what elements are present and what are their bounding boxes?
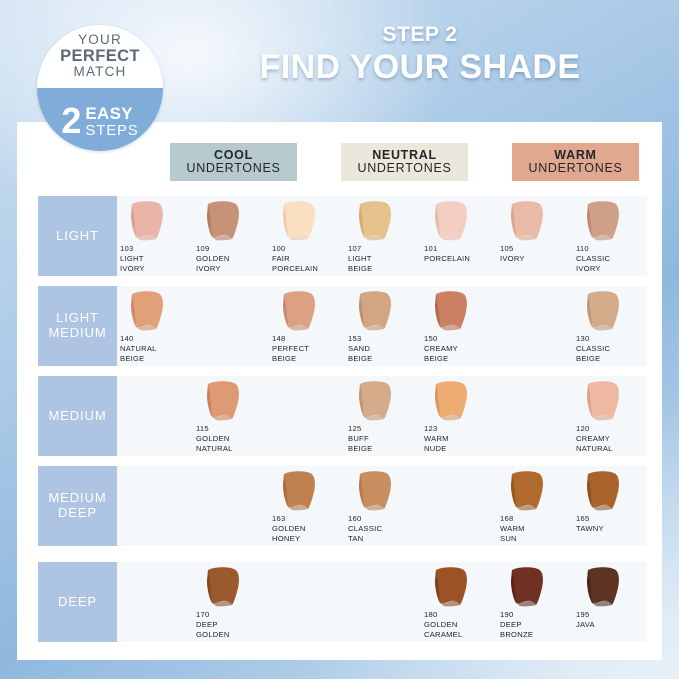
shade-cell[interactable]: 103LIGHTIVORY [117,196,193,276]
foundation-swatch-icon [275,289,325,334]
foundation-swatch-icon [579,379,629,424]
shade-cell[interactable]: 115GOLDENNATURAL [193,376,269,456]
shade-code: 180 [424,610,498,620]
shade-caption: 195JAVA [576,610,650,630]
shade-cell[interactable]: 153SANDBEIGE [345,286,421,366]
shade-cell[interactable]: 120CREAMYNATURAL [573,376,649,456]
shade-caption: 105IVORY [500,244,574,264]
shade-name-line: CREAMY [576,434,650,444]
badge-top-half: YOUR PERFECT MATCH [37,25,163,88]
shade-name-line: BUFF [348,434,422,444]
shade-name-line: IVORY [120,264,194,274]
shade-name-line: GOLDEN [196,434,270,444]
foundation-swatch-icon [351,469,401,514]
row-label-deep: DEEP [38,562,117,642]
shade-name-line: BEIGE [120,354,194,364]
shade-cell[interactable]: 105IVORY [497,196,573,276]
shade-code: 190 [500,610,574,620]
shade-code: 168 [500,514,574,524]
shade-caption: 163GOLDENHONEY [272,514,346,544]
foundation-swatch-icon [427,199,477,244]
shade-cell[interactable]: 140NATURALBEIGE [117,286,193,366]
shade-code: 163 [272,514,346,524]
shade-row: LIGHTMEDIUM140NATURALBEIGE148PERFECTBEIG… [38,286,647,366]
foundation-swatch-icon [199,565,249,610]
foundation-swatch-icon [275,469,325,514]
badge-step-words: EASY STEPS [85,105,138,138]
shade-cell[interactable]: 109GOLDENIVORY [193,196,269,276]
shade-code: 101 [424,244,498,254]
foundation-swatch-icon [427,565,477,610]
row-label-line: MEDIUM [48,326,106,341]
shade-caption: 160CLASSICTAN [348,514,422,544]
row-cells: 103LIGHTIVORY109GOLDENIVORY100FAIRPORCEL… [117,196,647,276]
shade-code: 123 [424,424,498,434]
undertone-header-cool: COOL UNDERTONES [170,143,297,181]
shade-name-line: CREAMY [424,344,498,354]
perfect-match-badge: YOUR PERFECT MATCH 2 EASY STEPS [37,25,163,151]
shade-caption: 123WARMNUDE [424,424,498,454]
shade-name-line: GOLDEN [196,254,270,264]
shade-name-line: IVORY [196,264,270,274]
shade-name-line: BEIGE [348,444,422,454]
shade-name-line: HONEY [272,534,346,544]
row-cells: 163GOLDENHONEY160CLASSICTAN168WARMSUN165… [117,466,647,546]
undertone-sub-warm: UNDERTONES [528,162,622,176]
shade-name-line: GOLDEN [424,620,498,630]
shade-cell[interactable]: 101PORCELAIN [421,196,497,276]
row-cells: 170DEEPGOLDEN180GOLDENCARAMEL190DEEPBRON… [117,562,647,642]
shade-name-line: JAVA [576,620,650,630]
shade-row: DEEP170DEEPGOLDEN180GOLDENCARAMEL190DEEP… [38,562,647,642]
shade-name-line: DEEP [500,620,574,630]
shade-name-line: BEIGE [348,354,422,364]
row-label-line: LIGHT [56,229,99,244]
foundation-swatch-icon [427,379,477,424]
shade-code: 195 [576,610,650,620]
shade-caption: 153SANDBEIGE [348,334,422,364]
row-label-medium: MEDIUM [38,376,117,456]
shade-caption: 101PORCELAIN [424,244,498,264]
shade-cell[interactable]: 110CLASSICIVORY [573,196,649,276]
page-title: FIND YOUR SHADE [200,50,640,86]
badge-bottom-half: 2 EASY STEPS [37,88,163,151]
shade-cell[interactable]: 150CREAMYBEIGE [421,286,497,366]
shade-code: 125 [348,424,422,434]
shade-name-line: CLASSIC [348,524,422,534]
shade-name-line: CLASSIC [576,344,650,354]
shade-cell[interactable]: 100FAIRPORCELAIN [269,196,345,276]
shade-name-line: BEIGE [576,354,650,364]
shade-code: 107 [348,244,422,254]
shade-code: 100 [272,244,346,254]
shade-cell[interactable]: 190DEEPBRONZE [497,562,573,642]
shade-cell[interactable]: 163GOLDENHONEY [269,466,345,546]
shade-caption: 190DEEPBRONZE [500,610,574,640]
shade-name-line: BEIGE [272,354,346,364]
shade-code: 150 [424,334,498,344]
shade-cell[interactable]: 170DEEPGOLDEN [193,562,269,642]
shade-caption: 115GOLDENNATURAL [196,424,270,454]
shade-caption: 120CREAMYNATURAL [576,424,650,454]
undertone-name-warm: WARM [554,149,596,163]
badge-line-match: MATCH [74,65,127,80]
badge-line-your: YOUR [78,33,122,48]
shade-cell[interactable]: 160CLASSICTAN [345,466,421,546]
shade-name-line: LIGHT [120,254,194,264]
badge-word-steps: STEPS [85,123,138,138]
row-label-light: LIGHT [38,196,117,276]
shade-code: 109 [196,244,270,254]
shade-code: 140 [120,334,194,344]
foundation-swatch-icon [427,289,477,334]
shade-name-line: BEIGE [424,354,498,364]
foundation-swatch-icon [275,199,325,244]
shade-name-line: CLASSIC [576,254,650,264]
foundation-swatch-icon [351,289,401,334]
shade-name-line: NATURAL [576,444,650,454]
foundation-swatch-icon [123,289,173,334]
shade-cell[interactable]: 165TAWNY [573,466,649,546]
shade-cell[interactable]: 168WARMSUN [497,466,573,546]
shade-code: 153 [348,334,422,344]
foundation-swatch-icon [351,379,401,424]
foundation-swatch-icon [199,199,249,244]
shade-cell[interactable]: 148PERFECTBEIGE [269,286,345,366]
badge-step-number: 2 [61,105,81,137]
shade-caption: 148PERFECTBEIGE [272,334,346,364]
shade-caption: 110CLASSICIVORY [576,244,650,274]
badge-line-perfect: PERFECT [60,48,140,66]
shade-code: 115 [196,424,270,434]
shade-caption: 100FAIRPORCELAIN [272,244,346,274]
shade-name-line: BRONZE [500,630,574,640]
shade-code: 103 [120,244,194,254]
foundation-swatch-icon [579,565,629,610]
shade-name-line: WARM [424,434,498,444]
foundation-swatch-icon [579,469,629,514]
undertone-name-cool: COOL [214,149,253,163]
shade-caption: 170DEEPGOLDEN [196,610,270,640]
foundation-swatch-icon [503,565,553,610]
shade-name-line: FAIR [272,254,346,264]
shade-name-line: BEIGE [348,264,422,274]
shade-name-line: GOLDEN [272,524,346,534]
shade-name-line: LIGHT [348,254,422,264]
shade-code: 120 [576,424,650,434]
shade-name-line: PORCELAIN [424,254,498,264]
shade-row: MEDIUM115GOLDENNATURAL125BUFFBEIGE123WAR… [38,376,647,456]
row-cells: 115GOLDENNATURAL125BUFFBEIGE123WARMNUDE1… [117,376,647,456]
shade-code: 110 [576,244,650,254]
shade-name-line: SAND [348,344,422,354]
undertone-header-neutral: NEUTRAL UNDERTONES [341,143,468,181]
row-label-line: DEEP [58,595,97,610]
undertone-header-warm: WARM UNDERTONES [512,143,639,181]
row-label-light-medium: LIGHTMEDIUM [38,286,117,366]
undertone-sub-neutral: UNDERTONES [357,162,451,176]
row-label-line: MEDIUM [48,491,106,506]
undertone-name-neutral: NEUTRAL [372,149,437,163]
shade-caption: 150CREAMYBEIGE [424,334,498,364]
shade-name-line: NUDE [424,444,498,454]
shade-name-line: IVORY [576,264,650,274]
foundation-swatch-icon [199,379,249,424]
shade-row: MEDIUMDEEP163GOLDENHONEY160CLASSICTAN168… [38,466,647,546]
shade-name-line: DEEP [196,620,270,630]
shade-caption: 140NATURALBEIGE [120,334,194,364]
shade-caption: 107LIGHTBEIGE [348,244,422,274]
shade-code: 148 [272,334,346,344]
foundation-swatch-icon [579,289,629,334]
shade-name-line: TAN [348,534,422,544]
step-label: STEP 2 [200,24,640,45]
shade-code: 170 [196,610,270,620]
shade-caption: 125BUFFBEIGE [348,424,422,454]
shade-row: LIGHT103LIGHTIVORY109GOLDENIVORY100FAIRP… [38,196,647,276]
shade-caption: 168WARMSUN [500,514,574,544]
shade-finder-poster: STEP 2 FIND YOUR SHADE YOUR PERFECT MATC… [0,0,679,679]
shade-name-line: WARM [500,524,574,534]
foundation-swatch-icon [579,199,629,244]
shade-code: 165 [576,514,650,524]
shade-name-line: CARAMEL [424,630,498,640]
shade-caption: 109GOLDENIVORY [196,244,270,274]
shade-cell[interactable]: 107LIGHTBEIGE [345,196,421,276]
shade-code: 105 [500,244,574,254]
shade-cell[interactable]: 125BUFFBEIGE [345,376,421,456]
shade-name-line: NATURAL [120,344,194,354]
shade-name-line: IVORY [500,254,574,264]
shade-caption: 103LIGHTIVORY [120,244,194,274]
row-label-line: LIGHT [56,311,99,326]
shade-caption: 165TAWNY [576,514,650,534]
shade-cell[interactable]: 130CLASSICBEIGE [573,286,649,366]
shade-name-line: PORCELAIN [272,264,346,274]
shade-name-line: SUN [500,534,574,544]
shade-cell[interactable]: 195JAVA [573,562,649,642]
foundation-swatch-icon [503,469,553,514]
shade-name-line: TAWNY [576,524,650,534]
headline-block: STEP 2 FIND YOUR SHADE [200,24,640,86]
foundation-swatch-icon [351,199,401,244]
foundation-swatch-icon [123,199,173,244]
shade-name-line: NATURAL [196,444,270,454]
shade-caption: 130CLASSICBEIGE [576,334,650,364]
undertone-sub-cool: UNDERTONES [186,162,280,176]
row-label-line: DEEP [58,506,97,521]
shade-code: 130 [576,334,650,344]
shade-name-line: PERFECT [272,344,346,354]
shade-code: 160 [348,514,422,524]
shade-cell[interactable]: 123WARMNUDE [421,376,497,456]
shade-caption: 180GOLDENCARAMEL [424,610,498,640]
shade-name-line: GOLDEN [196,630,270,640]
shade-cell[interactable]: 180GOLDENCARAMEL [421,562,497,642]
badge-word-easy: EASY [85,105,138,122]
row-cells: 140NATURALBEIGE148PERFECTBEIGE153SANDBEI… [117,286,647,366]
row-label-medium-deep: MEDIUMDEEP [38,466,117,546]
row-label-line: MEDIUM [48,409,106,424]
foundation-swatch-icon [503,199,553,244]
